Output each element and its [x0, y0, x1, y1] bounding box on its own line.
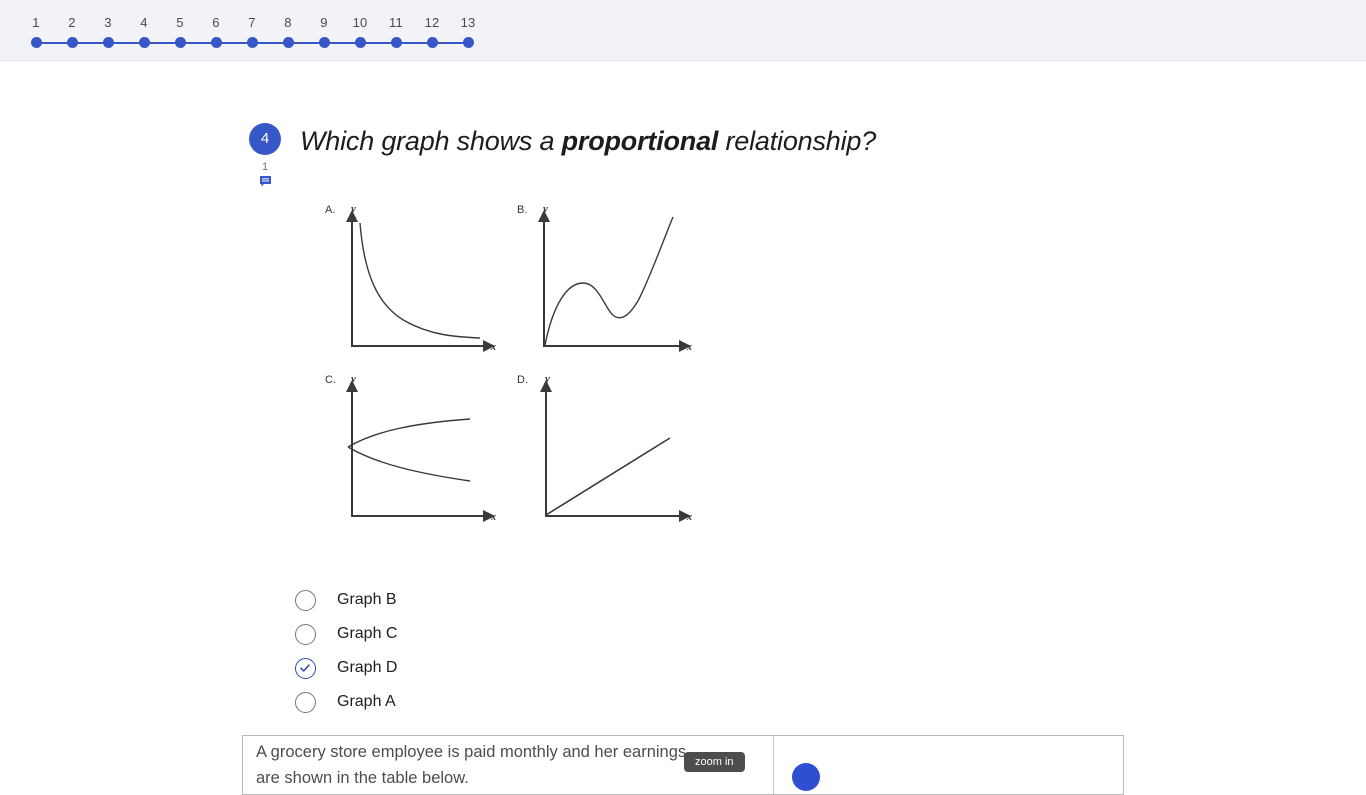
- graph-c: C. y x: [325, 373, 496, 523]
- progress-step-5[interactable]: 5: [162, 0, 198, 48]
- progress-step-4[interactable]: 4: [126, 0, 162, 48]
- progress-step-dot[interactable]: [139, 37, 150, 48]
- progress-step-dot[interactable]: [247, 37, 258, 48]
- progress-step-number: 7: [234, 0, 270, 30]
- progress-step-7[interactable]: 7: [234, 0, 270, 48]
- question-text: Which graph shows a proportional relatio…: [300, 124, 1200, 158]
- choice-label: Graph D: [337, 658, 397, 678]
- svg-text:A.: A.: [325, 204, 335, 216]
- progress-step-number: 3: [90, 0, 126, 30]
- comment-icon[interactable]: [259, 175, 272, 188]
- svg-text:y: y: [543, 373, 550, 385]
- svg-text:D.: D.: [517, 374, 528, 386]
- progress-step-11[interactable]: 11: [378, 0, 414, 48]
- progress-step-dot[interactable]: [67, 37, 78, 48]
- progress-step-number: 13: [450, 0, 486, 30]
- progress-step-number: 6: [198, 0, 234, 30]
- svg-text:B.: B.: [517, 204, 527, 216]
- progress-step-3[interactable]: 3: [90, 0, 126, 48]
- svg-text:x: x: [490, 342, 496, 353]
- progress-step-dot[interactable]: [391, 37, 402, 48]
- progress-step-dot[interactable]: [31, 37, 42, 48]
- svg-text:y: y: [349, 373, 356, 385]
- choice-graph-a[interactable]: Graph A: [295, 685, 795, 719]
- progress-step-number: 2: [54, 0, 90, 30]
- progress-step-8[interactable]: 8: [270, 0, 306, 48]
- progress-step-dot[interactable]: [355, 37, 366, 48]
- question-number-badge: 4: [249, 123, 281, 155]
- progress-step-track: 1 2 3 4 5 6 7 8: [0, 0, 500, 61]
- question-badge-column: 4 1: [249, 123, 281, 188]
- progress-step-number: 11: [378, 0, 414, 30]
- choice-label: Graph B: [337, 590, 397, 610]
- check-icon: [298, 661, 312, 675]
- svg-text:y: y: [541, 203, 548, 215]
- progress-step-10[interactable]: 10: [342, 0, 378, 48]
- radio-button-unselected[interactable]: [295, 590, 316, 611]
- progress-step-number: 4: [126, 0, 162, 30]
- progress-step-dot[interactable]: [175, 37, 186, 48]
- comment-count: 1: [249, 161, 281, 174]
- answer-choices: Graph B Graph C Graph D Graph A: [295, 583, 795, 719]
- radio-button-unselected[interactable]: [295, 624, 316, 645]
- progress-step-number: 5: [162, 0, 198, 30]
- progress-step-dot[interactable]: [211, 37, 222, 48]
- progress-step-2[interactable]: 2: [54, 0, 90, 48]
- choice-graph-c[interactable]: Graph C: [295, 617, 795, 651]
- svg-text:x: x: [686, 342, 692, 353]
- panel-blue-circle-icon[interactable]: [792, 763, 820, 791]
- passage-line-2: are shown in the table below.: [256, 769, 469, 787]
- choice-graph-d[interactable]: Graph D: [295, 651, 795, 685]
- choice-label: Graph C: [337, 624, 397, 644]
- svg-text:y: y: [349, 203, 356, 215]
- progress-step-number: 10: [342, 0, 378, 30]
- progress-step-1[interactable]: 1: [18, 0, 54, 48]
- question-text-part2: relationship?: [718, 126, 876, 156]
- progress-step-dot[interactable]: [103, 37, 114, 48]
- question-text-bold: proportional: [562, 126, 719, 156]
- progress-step-9[interactable]: 9: [306, 0, 342, 48]
- panel-divider: [773, 736, 774, 795]
- graph-d: D. y x: [517, 373, 692, 523]
- graph-b: B. y x: [517, 203, 692, 353]
- passage-line-1: A grocery store employee is paid monthly…: [256, 743, 686, 761]
- progress-step-number: 9: [306, 0, 342, 30]
- progress-step-dot[interactable]: [427, 37, 438, 48]
- choice-graph-b[interactable]: Graph B: [295, 583, 795, 617]
- progress-step-13[interactable]: 13: [450, 0, 486, 48]
- progress-step-number: 12: [414, 0, 450, 30]
- progress-step-dot[interactable]: [319, 37, 330, 48]
- progress-step-6[interactable]: 6: [198, 0, 234, 48]
- progress-bar: 1 2 3 4 5 6 7 8: [0, 0, 1366, 61]
- svg-text:x: x: [686, 512, 692, 523]
- progress-step-number: 1: [18, 0, 54, 30]
- progress-step-number: 8: [270, 0, 306, 30]
- svg-text:x: x: [490, 512, 496, 523]
- question-text-part1: Which graph shows a: [300, 126, 562, 156]
- choice-label: Graph A: [337, 692, 396, 712]
- passage-panel[interactable]: A grocery store employee is paid monthly…: [242, 735, 1124, 795]
- progress-step-dot[interactable]: [463, 37, 474, 48]
- zoom-in-tooltip: zoom in: [684, 752, 745, 772]
- progress-step-12[interactable]: 12: [414, 0, 450, 48]
- radio-button-unselected[interactable]: [295, 692, 316, 713]
- progress-step-dot[interactable]: [283, 37, 294, 48]
- graph-a: A. y x: [325, 203, 496, 353]
- radio-button-selected[interactable]: [295, 658, 316, 679]
- graphs-figure[interactable]: A. y x B. y x C. y x D. y x: [315, 195, 715, 535]
- svg-text:C.: C.: [325, 374, 336, 386]
